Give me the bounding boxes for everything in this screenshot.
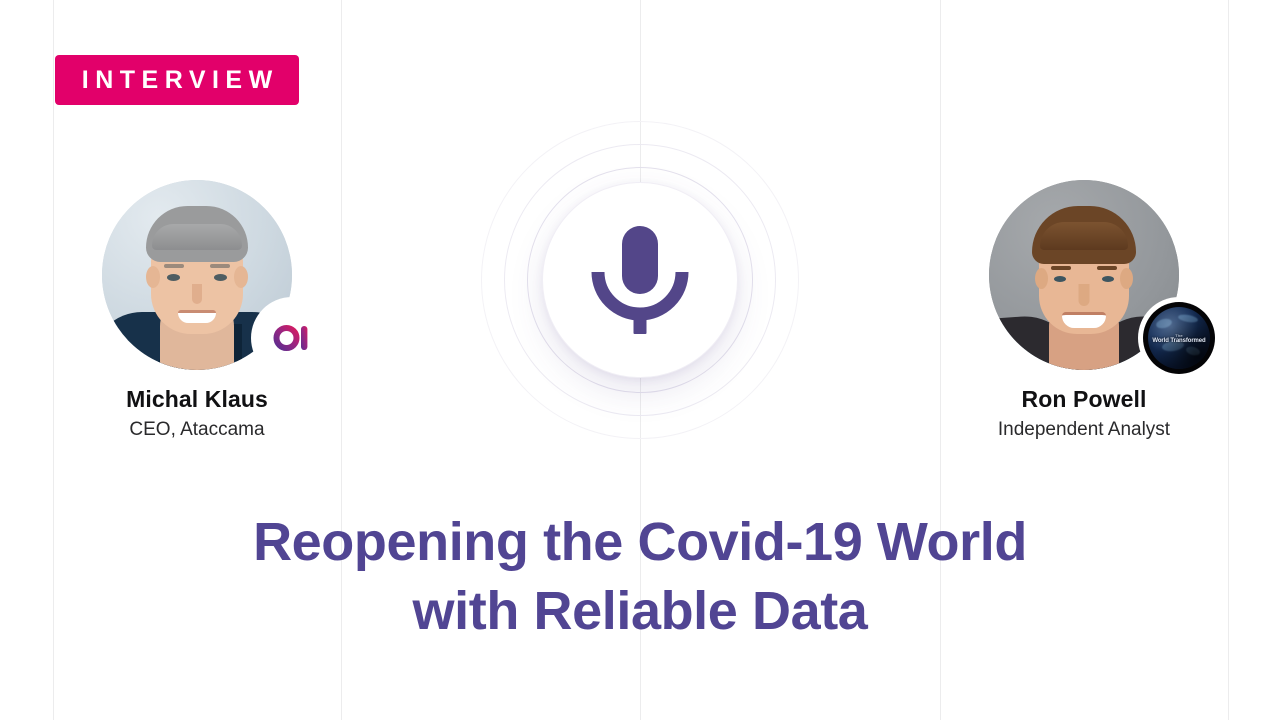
interview-badge-label: INTERVIEW (75, 68, 278, 93)
speaker-name-left: Michal Klaus (53, 386, 341, 414)
speaker-photo-wrap-left (102, 180, 292, 370)
microphone-graphic (480, 120, 800, 440)
speaker-card-michal-klaus: Michal Klaus CEO, Ataccama (53, 180, 341, 441)
speaker-name-right: Ron Powell (940, 386, 1228, 414)
page-title-line-1: Reopening the Covid-19 World (0, 508, 1280, 577)
ataccama-logo-icon (256, 302, 328, 374)
speaker-role-right: Independent Analyst (940, 418, 1228, 442)
speaker-card-ron-powell: The World Transformed Ron Powell Indepen… (940, 180, 1228, 441)
slide-canvas: INTERVIEW (0, 0, 1280, 720)
interview-badge: INTERVIEW (55, 55, 299, 105)
speaker-photo-wrap-right: The World Transformed (989, 180, 1179, 370)
tw-logo-line2: World Transformed (1148, 338, 1210, 344)
the-world-transformed-logo-icon: The World Transformed (1143, 302, 1215, 374)
speaker-role-left: CEO, Ataccama (53, 418, 341, 442)
microphone-icon (588, 226, 692, 334)
page-title-line-2: with Reliable Data (0, 577, 1280, 646)
page-title: Reopening the Covid-19 World with Reliab… (0, 508, 1280, 646)
